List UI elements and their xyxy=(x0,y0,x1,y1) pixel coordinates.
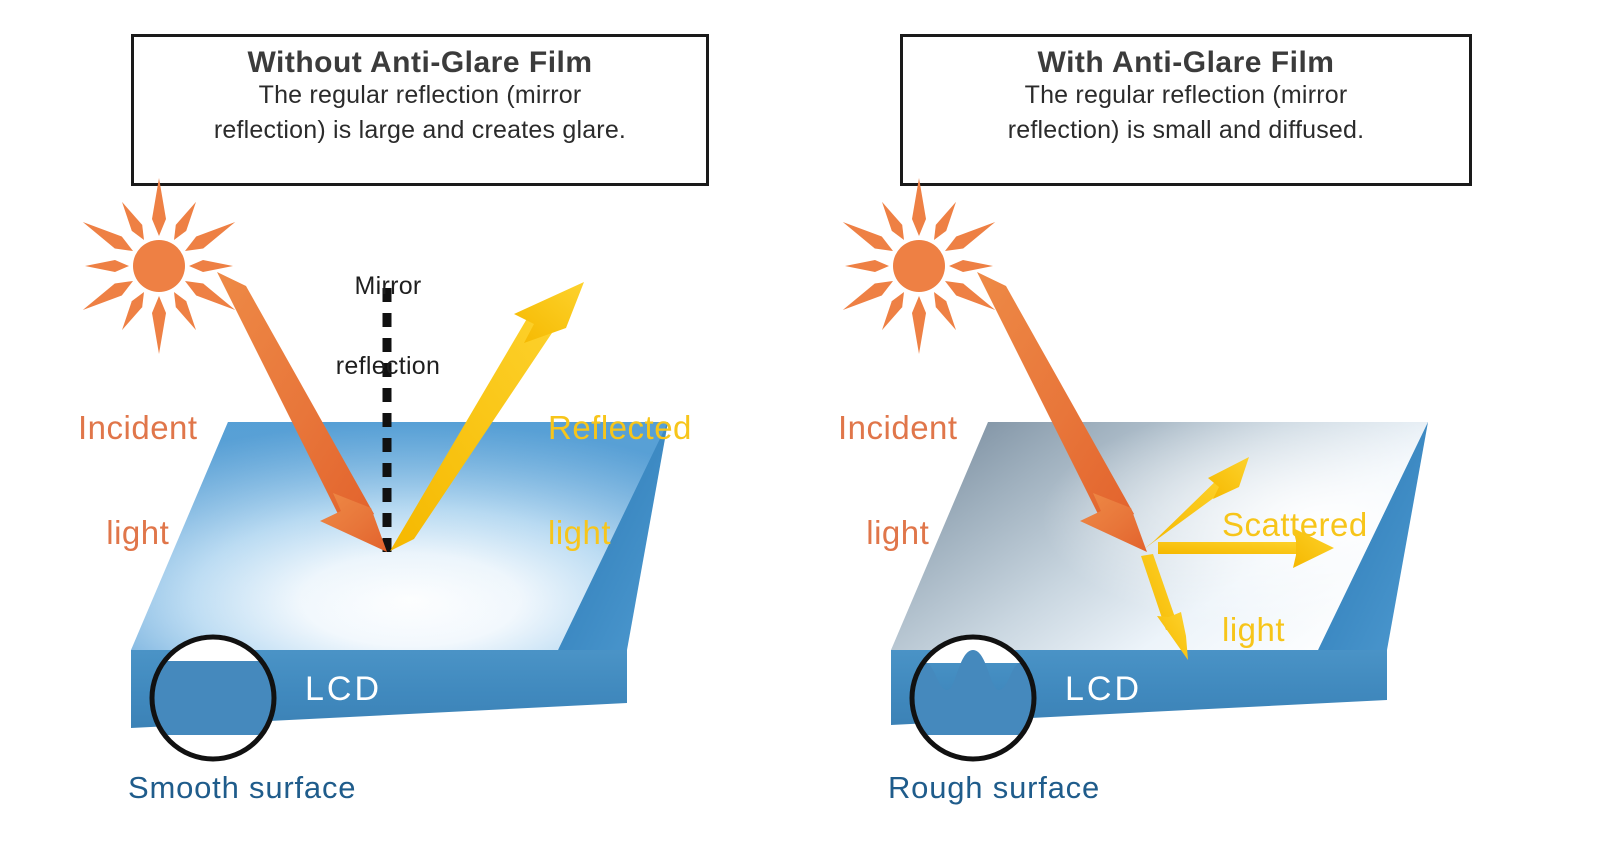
incident-light-label-right-line1: Incident xyxy=(838,411,958,446)
sun-icon-left-panel xyxy=(79,178,238,354)
incident-light-label-left-line1: Incident xyxy=(78,411,198,446)
illustration-layer xyxy=(0,0,1600,860)
mirror-reflection-label: Mirror reflection xyxy=(300,220,476,432)
scattered-light-label-line2: light xyxy=(1222,613,1368,648)
lcd-label-left: LCD xyxy=(305,670,382,709)
smooth-surface-label: Smooth surface xyxy=(128,772,356,805)
sun-icon-right-panel xyxy=(839,178,998,354)
magnifier-rough-surface xyxy=(910,637,1038,765)
reflected-light-label-line1: Reflected xyxy=(548,411,692,446)
reflected-light-label-line2: light xyxy=(548,516,692,551)
magnifier-smooth-surface xyxy=(150,637,278,765)
reflected-light-label: Reflected light xyxy=(548,341,692,621)
lcd-label-right: LCD xyxy=(1065,670,1142,709)
mirror-reflection-label-line1: Mirror xyxy=(300,273,476,300)
rough-surface-label: Rough surface xyxy=(888,772,1100,805)
incident-light-label-left: Incident light xyxy=(78,341,198,621)
diagram-canvas: Without Anti-Glare Film The regular refl… xyxy=(0,0,1600,860)
scattered-light-label: Scattered light xyxy=(1222,438,1368,718)
incident-light-label-left-line2: light xyxy=(78,516,198,551)
mirror-reflection-label-line2: reflection xyxy=(300,353,476,380)
incident-light-label-right-line2: light xyxy=(838,516,958,551)
scattered-light-label-line1: Scattered xyxy=(1222,508,1368,543)
incident-light-label-right: Incident light xyxy=(838,341,958,621)
